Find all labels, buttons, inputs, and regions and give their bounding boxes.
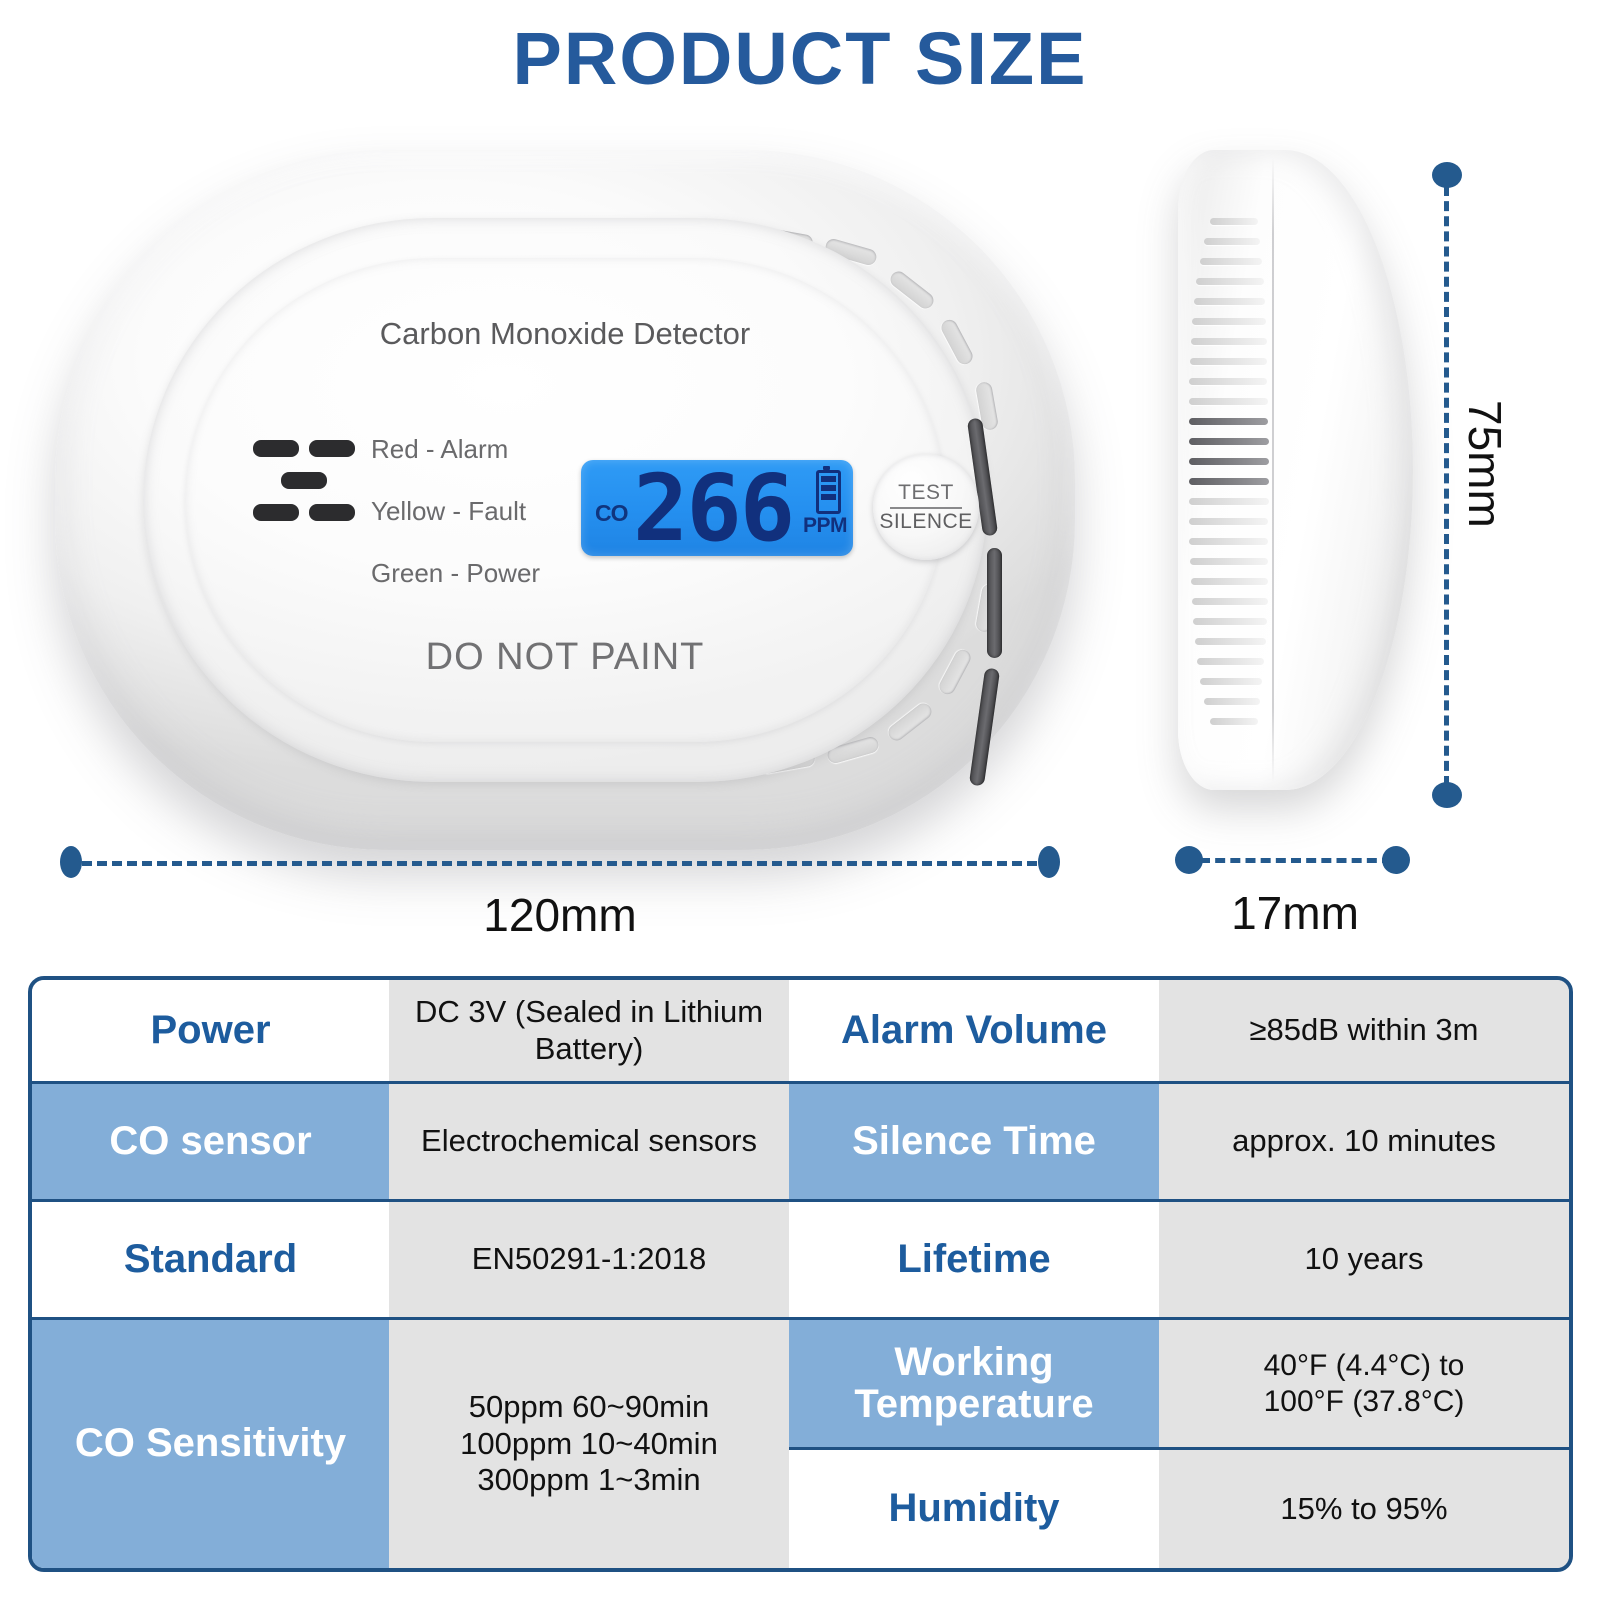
co-sensitivity-line-2: 100ppm 10~40min bbox=[460, 1426, 718, 1463]
housing-seam bbox=[1272, 158, 1274, 782]
detector-product-name: Carbon Monoxide Detector bbox=[185, 316, 945, 352]
spec-label-silence-time: Silence Time bbox=[789, 1084, 1159, 1202]
spec-label-standard: Standard bbox=[32, 1202, 389, 1320]
spec-value-humidity: 15% to 95% bbox=[1159, 1450, 1569, 1568]
detector-faceplate: Carbon Monoxide Detector Red - Alarm Yel… bbox=[185, 258, 945, 742]
spec-value-standard: EN50291-1:2018 bbox=[389, 1202, 789, 1320]
spec-label-working-temperature: Working Temperature bbox=[789, 1320, 1159, 1450]
spec-label-alarm-volume: Alarm Volume bbox=[789, 980, 1159, 1084]
button-divider bbox=[890, 507, 962, 509]
spec-value-co-sensitivity: 50ppm 60~90min 100ppm 10~40min 300ppm 1~… bbox=[389, 1320, 789, 1568]
do-not-paint-warning: DO NOT PAINT bbox=[185, 636, 945, 679]
working-temperature-line-1: Working bbox=[854, 1342, 1093, 1384]
legend-item-yellow: Yellow - Fault bbox=[371, 496, 526, 527]
spec-value-co-sensor: Electrochemical sensors bbox=[389, 1084, 789, 1202]
detector-front-view: Carbon Monoxide Detector Red - Alarm Yel… bbox=[55, 150, 1075, 850]
silence-label: SILENCE bbox=[879, 510, 972, 534]
spec-label-co-sensitivity: CO Sensitivity bbox=[32, 1320, 389, 1568]
spec-label-lifetime: Lifetime bbox=[789, 1202, 1159, 1320]
product-illustration: Carbon Monoxide Detector Red - Alarm Yel… bbox=[0, 130, 1600, 960]
lcd-gas-label: CO bbox=[595, 500, 628, 527]
spec-label-humidity: Humidity bbox=[789, 1450, 1159, 1568]
spec-label-power: Power bbox=[32, 980, 389, 1084]
led-indicator-yellow-icon bbox=[987, 548, 1002, 658]
test-label: TEST bbox=[898, 481, 954, 505]
co-sensitivity-line-3: 300ppm 1~3min bbox=[460, 1462, 718, 1499]
detector-side-housing bbox=[1178, 150, 1413, 790]
spec-value-power: DC 3V (Sealed in Lithium Battery) bbox=[389, 980, 789, 1084]
dimension-height-label: 75mm bbox=[1458, 400, 1512, 528]
spec-value-working-temperature: 40°F (4.4°C) to 100°F (37.8°C) bbox=[1159, 1320, 1569, 1450]
legend-item-red: Red - Alarm bbox=[371, 434, 508, 465]
spec-value-alarm-volume: ≥85dB within 3m bbox=[1159, 980, 1569, 1084]
battery-icon bbox=[816, 470, 841, 514]
specification-table: Power DC 3V (Sealed in Lithium Battery) … bbox=[28, 976, 1573, 1572]
lcd-unit-label: PPM bbox=[803, 514, 847, 538]
working-temperature-value-line-2: 100°F (37.8°C) bbox=[1264, 1384, 1465, 1419]
test-silence-button[interactable]: TEST SILENCE bbox=[873, 454, 979, 560]
dimension-width-label: 120mm bbox=[0, 888, 1120, 942]
dimension-depth-label: 17mm bbox=[1140, 886, 1450, 940]
spec-value-silence-time: approx. 10 minutes bbox=[1159, 1084, 1569, 1202]
working-temperature-line-2: Temperature bbox=[854, 1384, 1093, 1426]
spec-value-lifetime: 10 years bbox=[1159, 1202, 1569, 1320]
page-title: PRODUCT SIZE bbox=[0, 16, 1600, 101]
lcd-reading: 266 bbox=[633, 462, 793, 556]
legend-item-green: Green - Power bbox=[371, 558, 540, 589]
spec-label-co-sensor: CO sensor bbox=[32, 1084, 389, 1202]
co-sensitivity-line-1: 50ppm 60~90min bbox=[460, 1389, 718, 1426]
working-temperature-value-line-1: 40°F (4.4°C) to bbox=[1264, 1348, 1465, 1383]
detector-side-view bbox=[1160, 150, 1420, 800]
lcd-display: CO 266 PPM bbox=[581, 460, 853, 556]
